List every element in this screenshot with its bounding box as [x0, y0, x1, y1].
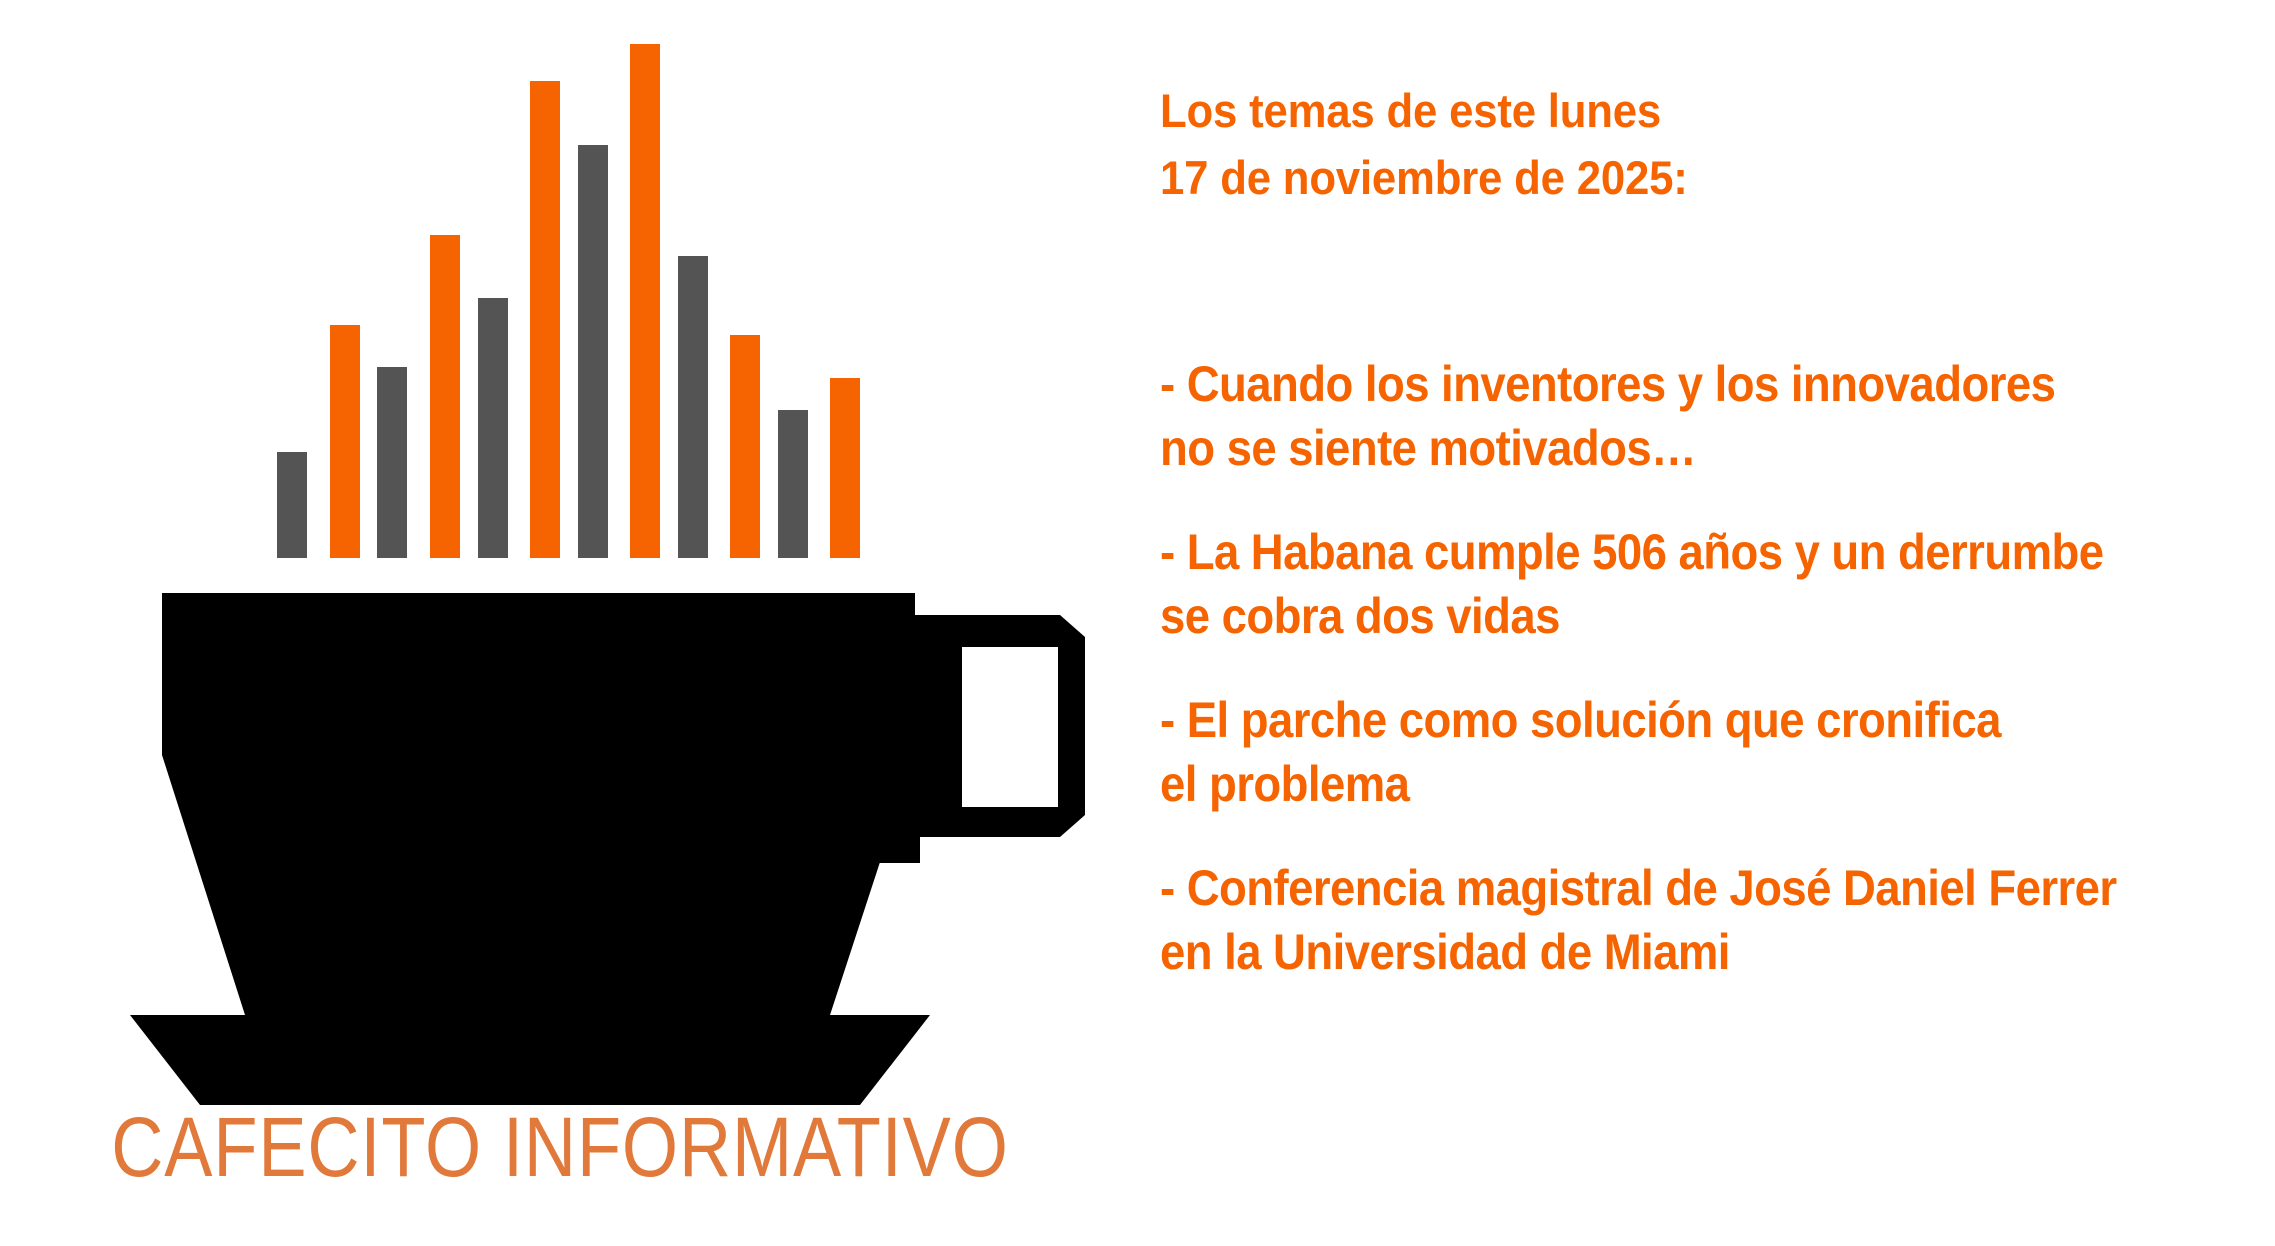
topic-line-1: - El parche como solución que cronifica — [1160, 688, 2179, 752]
bar-chart-bar — [630, 44, 660, 558]
topic-line-2: el problema — [1160, 752, 2179, 816]
bar-chart-bar — [478, 298, 508, 558]
headline: Los temas de este lunes 17 de noviembre … — [1160, 78, 2183, 211]
brand-wordmark: CAFECITO INFORMATIVO — [78, 1105, 1041, 1189]
bar-chart-bar — [277, 452, 307, 558]
bar-chart-bar — [377, 367, 407, 558]
topics-panel: Los temas de este lunes 17 de noviembre … — [1160, 0, 2260, 1246]
topic-line-2: se cobra dos vidas — [1160, 584, 2179, 648]
bar-chart-bar — [430, 235, 460, 558]
topic-line-1: - La Habana cumple 506 años y un derrumb… — [1160, 520, 2179, 584]
topic-item: - Cuando los inventores y los innovadore… — [1160, 352, 2179, 480]
topic-line-2: no se siente motivados… — [1160, 416, 2179, 480]
bar-chart-bar — [778, 410, 808, 558]
logo-panel: CAFECITO INFORMATIVO — [0, 0, 1120, 1246]
bar-chart-bar — [730, 335, 760, 558]
topic-line-1: - Conferencia magistral de José Daniel F… — [1160, 856, 2179, 920]
topics-list: - Cuando los inventores y los innovadore… — [1160, 352, 2275, 1024]
bar-chart-bar — [578, 145, 608, 558]
bar-chart-bar — [830, 378, 860, 558]
topic-line-2: en la Universidad de Miami — [1160, 920, 2179, 984]
bar-chart — [0, 0, 1120, 558]
topic-line-1: - Cuando los inventores y los innovadore… — [1160, 352, 2179, 416]
headline-line-2: 17 de noviembre de 2025: — [1160, 145, 2183, 212]
topic-item: - El parche como solución que cronificae… — [1160, 688, 2179, 816]
topic-item: - Conferencia magistral de José Daniel F… — [1160, 856, 2179, 984]
bar-chart-bar — [530, 81, 560, 558]
bar-chart-bar — [330, 325, 360, 558]
topic-item: - La Habana cumple 506 años y un derrumb… — [1160, 520, 2179, 648]
bar-chart-bar — [678, 256, 708, 558]
coffee-cup-icon — [130, 585, 1110, 1105]
headline-line-1: Los temas de este lunes — [1160, 78, 2183, 145]
